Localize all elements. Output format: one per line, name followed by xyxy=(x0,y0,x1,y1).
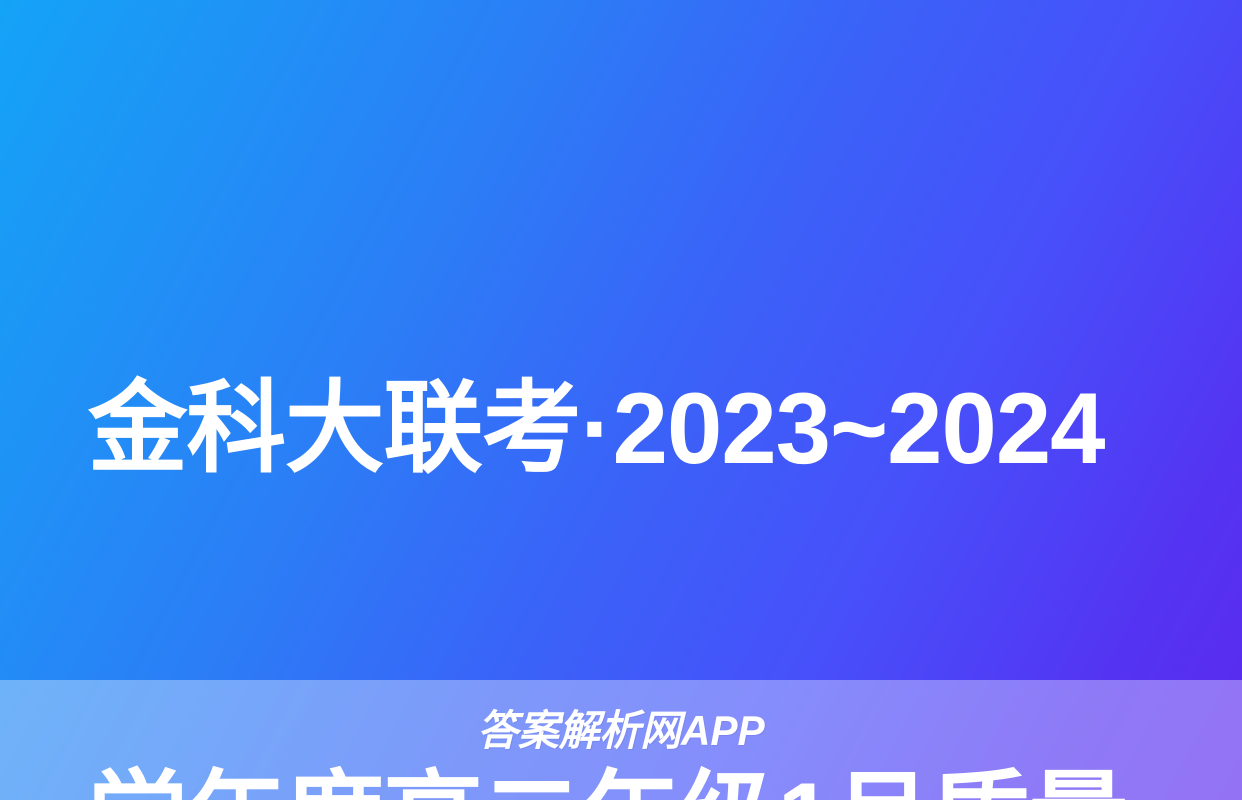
page-title: 金科大联考·2023~2024 学年度高二年级1月质量 检测(24420B)政治… xyxy=(88,104,1150,800)
watermark-label: 答案解析网APP xyxy=(477,710,764,752)
title-line-1: 金科大联考·2023~2024 xyxy=(88,364,1150,494)
exam-cover-poster: 金科大联考·2023~2024 学年度高二年级1月质量 检测(24420B)政治… xyxy=(0,0,1242,800)
title-line-2: 学年度高二年级1月质量 xyxy=(88,754,1150,800)
watermark: 答案解析网APP xyxy=(19,703,1224,759)
